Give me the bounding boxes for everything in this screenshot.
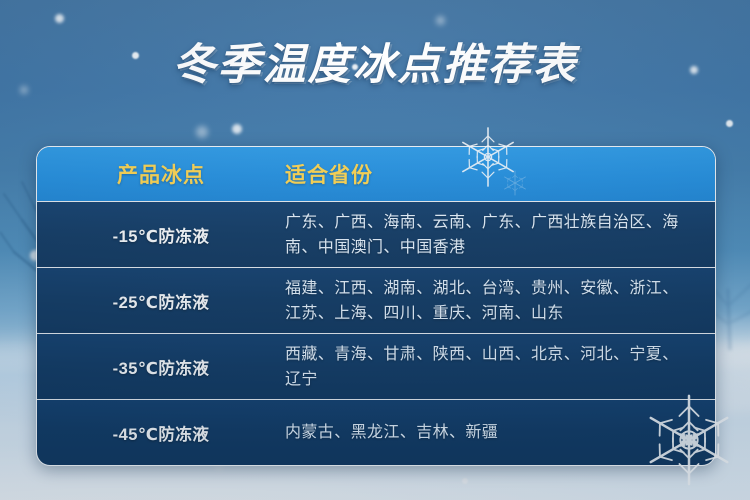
table-row: -35℃防冻液 西藏、青海、甘肃、陕西、山西、北京、河北、宁夏、辽宁 [37, 333, 715, 399]
product-label: -45℃防冻液 [113, 426, 210, 444]
cell-provinces: 西藏、青海、甘肃、陕西、山西、北京、河北、宁夏、辽宁 [285, 342, 715, 392]
cell-provinces: 广东、广西、海南、云南、广东、广西壮族自治区、海南、中国澳门、中国香港 [285, 210, 715, 260]
provinces-label: 广东、广西、海南、云南、广东、广西壮族自治区、海南、中国澳门、中国香港 [285, 214, 679, 256]
cell-product: -45℃防冻液 [37, 421, 285, 445]
snow-dot [196, 126, 208, 138]
table-row: -25℃防冻液 福建、江西、湖南、湖北、台湾、贵州、安徽、浙江、江苏、上海、四川… [37, 267, 715, 333]
cell-provinces: 福建、江西、湖南、湖北、台湾、贵州、安徽、浙江、江苏、上海、四川、重庆、河南、山… [285, 276, 715, 326]
cell-provinces: 内蒙古、黑龙江、吉林、新疆 [285, 420, 715, 445]
page-title: 冬季温度冰点推荐表 [0, 44, 750, 87]
snow-dot [232, 124, 242, 134]
snow-dot [55, 14, 64, 23]
product-label: -15℃防冻液 [113, 228, 210, 246]
cell-product: -15℃防冻液 [37, 223, 285, 247]
snow-dot [20, 86, 28, 94]
poster-canvas: 冬季温度冰点推荐表 产品冰点 适合省份 -15℃防冻液 广东、广西、海南、云南、… [0, 0, 750, 500]
product-label: -35℃防冻液 [113, 360, 210, 378]
cell-product: -35℃防冻液 [37, 355, 285, 379]
cell-product: -25℃防冻液 [37, 289, 285, 313]
table-header-row: 产品冰点 适合省份 [37, 147, 715, 201]
provinces-label: 福建、江西、湖南、湖北、台湾、贵州、安徽、浙江、江苏、上海、四川、重庆、河南、山… [285, 280, 679, 322]
table-row: -45℃防冻液 内蒙古、黑龙江、吉林、新疆 [37, 399, 715, 465]
snow-dot [436, 16, 445, 25]
table-row: -15℃防冻液 广东、广西、海南、云南、广东、广西壮族自治区、海南、中国澳门、中… [37, 201, 715, 267]
product-label: -25℃防冻液 [113, 294, 210, 312]
recommendation-table: 产品冰点 适合省份 -15℃防冻液 广东、广西、海南、云南、广东、广西壮族自治区… [36, 146, 716, 466]
column-header-provinces: 适合省份 [285, 159, 715, 189]
provinces-label: 内蒙古、黑龙江、吉林、新疆 [285, 424, 498, 441]
snow-dot [462, 478, 468, 484]
column-header-product: 产品冰点 [37, 159, 285, 189]
provinces-label: 西藏、青海、甘肃、陕西、山西、北京、河北、宁夏、辽宁 [285, 346, 679, 388]
snow-dot [726, 120, 733, 127]
column-header-product-label: 产品冰点 [117, 164, 205, 187]
column-header-provinces-label: 适合省份 [285, 159, 373, 189]
